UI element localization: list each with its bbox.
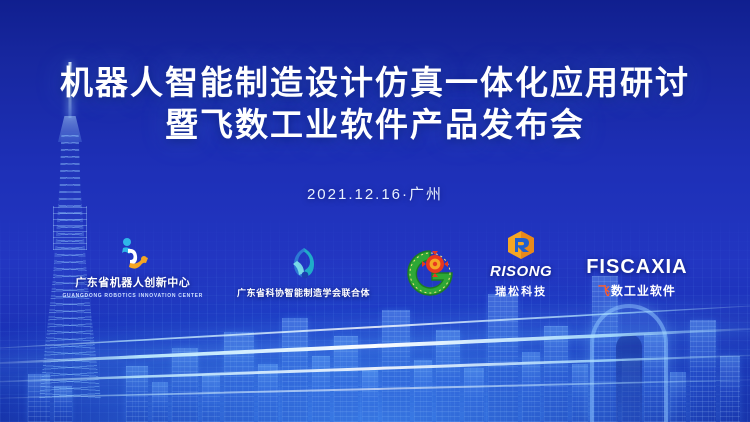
conference-banner: 机器人智能制造设计仿真一体化应用研讨 暨飞数工业软件产品发布会 2021.12.… (0, 0, 750, 422)
title-line-1: 机器人智能制造设计仿真一体化应用研讨 (0, 62, 750, 104)
sponsor-logo-row: 广东省机器人创新中心 GUANGDONG ROBOTICS INNOVATION… (0, 237, 750, 299)
date-location: 2021.12.16·广州 (0, 183, 750, 204)
logo-fiscaxia: FISCAXIA 飞数工业软件 (586, 256, 687, 299)
fiscaxia-wordmark-icon: FISCAXIA (586, 256, 687, 279)
logo-risong: RISONG 瑞松科技 (490, 230, 552, 299)
logo-guangdong-intelligent-manufacturing-society-union: 广东省科协智能制造学会联合体 (237, 245, 370, 299)
logo-guangdong-robotics-innovation-center: 广东省机器人创新中心 GUANGDONG ROBOTICS INNOVATION… (62, 237, 203, 299)
hexagon-r-icon (506, 230, 536, 260)
logo-name-cn: 广东省机器人创新中心 (75, 274, 190, 290)
robot-figure-icon (113, 237, 153, 271)
green-g-emblem-icon (404, 247, 456, 299)
logo-name-en: GUANGDONG ROBOTICS INNOVATION CENTER (62, 293, 203, 299)
banner-title: 机器人智能制造设计仿真一体化应用研讨 暨飞数工业软件产品发布会 (0, 62, 750, 145)
title-line-2: 暨飞数工业软件产品发布会 (0, 104, 750, 146)
logo-green-g-emblem (404, 247, 456, 299)
logo-name-cn: 飞数工业软件 (598, 282, 676, 299)
logo-name-en: RISONG (490, 263, 552, 280)
abstract-loop-icon (284, 245, 324, 283)
logo-name-cn: 瑞松科技 (495, 283, 547, 299)
logo-name-cn-rest: 数工业软件 (611, 284, 676, 298)
logo-name-cn: 广东省科协智能制造学会联合体 (237, 286, 370, 299)
logo-name-cn-prefix: 飞 (598, 284, 611, 298)
